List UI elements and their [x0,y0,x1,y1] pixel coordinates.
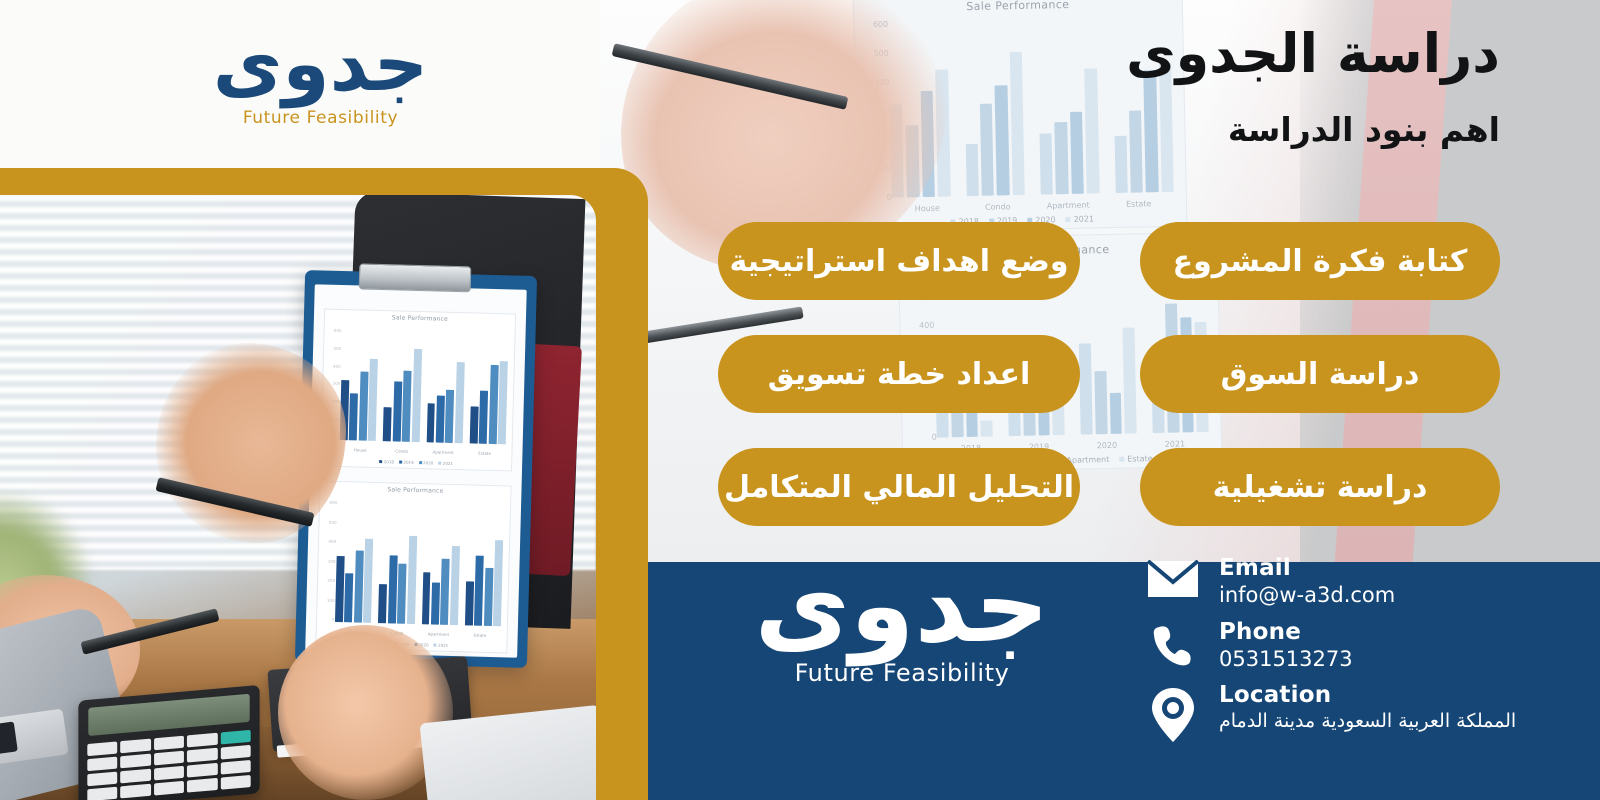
chart-bar [484,568,493,626]
chart-bar [431,582,440,624]
chart-legend-item: 2018 [379,459,394,464]
brand-tagline: Future Feasibility [188,108,453,128]
chart-bar [359,372,369,441]
chart-bar [1070,112,1084,194]
chart-bar [392,382,401,442]
chart-legend-item: 2021 [438,461,453,466]
chart-bar [1109,392,1122,433]
chart-category-label: Apartment [422,449,464,455]
page-subtitle: اهم بنود الدراسة [1228,110,1500,149]
chart-bar [445,390,454,443]
poster-canvas: Sale Performance 600 500 400 300 200 100… [0,0,1600,800]
chart-category-label: Condo [381,448,423,454]
email-value[interactable]: info@w-a3d.com [1219,582,1395,609]
phone-value[interactable]: 0531513273 [1219,646,1353,673]
pill-project-idea[interactable]: كتابة فكرة المشروع [1140,222,1500,300]
phone-text: Phone 0531513273 [1219,620,1353,674]
clipboard-chart-top: Sale Performance 600 500 400 300 200 100… [320,309,516,472]
chart-bar [407,536,417,624]
pill-strategic-goals[interactable]: وضع اهداف استراتيجية [718,222,1080,300]
clipboard-chart-bottom-title: Sale Performance [320,485,510,497]
chart-bar-group [421,504,460,625]
contact-block: Email info@w-a3d.com Phone 0531513273 [1145,556,1600,753]
chart-bar [349,394,358,441]
chart-bar [1114,136,1128,193]
location-value: المملكة العربية السعودية مدينة الدمام [1219,709,1516,734]
chart-bar [980,104,994,196]
chart-bar [388,555,398,623]
chart-bar [474,556,484,626]
chart-category-label: Estate [459,632,501,638]
chart-bar-group [378,503,417,624]
chart-legend-item: 2021 [1066,214,1095,224]
clipboard-chart-top-legend: 2018201920202021 [321,458,511,468]
photo-calculator [78,685,259,800]
chart-bar [465,581,474,625]
location-label: Location [1219,683,1516,708]
clipboard-chart-bottom-bars [335,502,504,626]
chart-bar-group [1037,23,1099,194]
chart-bar-group [1077,268,1136,434]
pill-marketing-plan[interactable]: اعداد خطة تسويق [718,335,1080,413]
chart-bar [1094,371,1107,434]
chart-bar [411,349,421,442]
brand-logo-header: جدوى Future Feasibility [188,28,453,128]
chart-bar [363,539,373,623]
chart-bar-group [469,333,508,444]
chart-bar [498,361,508,445]
chart-bar [421,572,430,624]
chart-bar [965,143,978,196]
contact-row-email[interactable]: Email info@w-a3d.com [1145,556,1600,610]
chart-category-label: Apartment [418,631,460,637]
chart-bar [1123,328,1137,434]
chart-bar [436,396,445,443]
brand-logo-footer: جدوى Future Feasibility [672,556,1132,687]
chart-category-label: 2020 [1073,440,1141,450]
chart-category-label: Estate [464,450,506,456]
chart-legend-item: 2021 [434,643,449,648]
chart-bar [354,550,364,622]
chart-legend-item: 2019 [399,460,414,465]
chart-bar [1055,122,1069,194]
chart-bar [383,407,392,441]
chart-bar [378,584,387,623]
footer-gold-bar [610,562,648,800]
clipboard-chart-top-title: Sale Performance [325,313,515,325]
contact-row-location[interactable]: Location المملكة العربية السعودية مدينة … [1145,683,1600,743]
chart-bar [1084,69,1099,194]
background-chart-categories: HouseCondoApartmentEstate [892,199,1174,214]
chart-bar [397,564,407,624]
email-icon [1145,556,1201,598]
chart-bar [402,370,412,442]
chart-legend-item: 2020 [419,460,434,465]
chart-bar-group [335,502,374,623]
chart-bar [493,540,503,626]
brand-logo-arabic-footer: جدوى [672,556,1132,655]
pill-market-study[interactable]: دراسة السوق [1140,335,1500,413]
calculator-screen [88,694,249,736]
clipboard-chart-top-categories: HouseCondoApartmentEstate [339,447,505,456]
location-pin-icon [1145,683,1201,743]
email-text: Email info@w-a3d.com [1219,556,1395,610]
chart-bar [455,362,465,443]
chart-bar [1143,70,1158,192]
chart-bar-group [963,25,1025,196]
chart-bar-group [426,332,465,443]
phone-label: Phone [1219,620,1353,645]
page-title: دراسة الجدوى [1126,22,1500,85]
chart-bar [440,559,450,625]
chart-category-label: Apartment [1033,200,1104,210]
chart-bar [1129,110,1143,192]
chart-bar [335,556,345,622]
brand-tagline-footer: Future Feasibility [672,659,1132,687]
phone-icon [1145,620,1201,666]
chart-bar [488,365,498,444]
chart-category-label: House [339,447,381,453]
location-text: Location المملكة العربية السعودية مدينة … [1219,683,1516,734]
chart-bar [1040,133,1054,194]
pill-financial-analysis[interactable]: التحليل المالي المتكامل [718,448,1080,526]
chart-bar [426,403,435,443]
chart-bar [981,420,993,437]
chart-bar [1009,52,1024,195]
brand-logo-arabic: جدوى [188,28,453,100]
chart-bar [344,573,353,622]
chart-category-label: Estate [1103,199,1174,209]
email-label: Email [1219,556,1395,581]
chart-bar [368,358,378,441]
chart-bar-group [465,505,504,626]
meeting-photo: Sale Performance 600 500 400 300 200 100… [0,195,596,800]
chart-bar [450,546,460,625]
chart-bar [995,85,1010,196]
chart-category-label: Condo [962,202,1033,212]
clipboard-chart-bottom-yaxis: 600 500 400 300 200 100 0 [319,500,337,622]
chart-bar [469,407,478,444]
chart-bar [479,390,488,443]
chart-bar [951,411,963,437]
clipboard-chart-top-bars [340,330,509,444]
pill-operational-study[interactable]: دراسة تشغيلية [1140,448,1500,526]
calculator-keys [87,730,250,800]
clipboard-clamp [359,263,472,292]
chart-bar [1079,344,1093,435]
chart-bar-group [383,331,422,442]
contact-row-phone[interactable]: Phone 0531513273 [1145,620,1600,674]
